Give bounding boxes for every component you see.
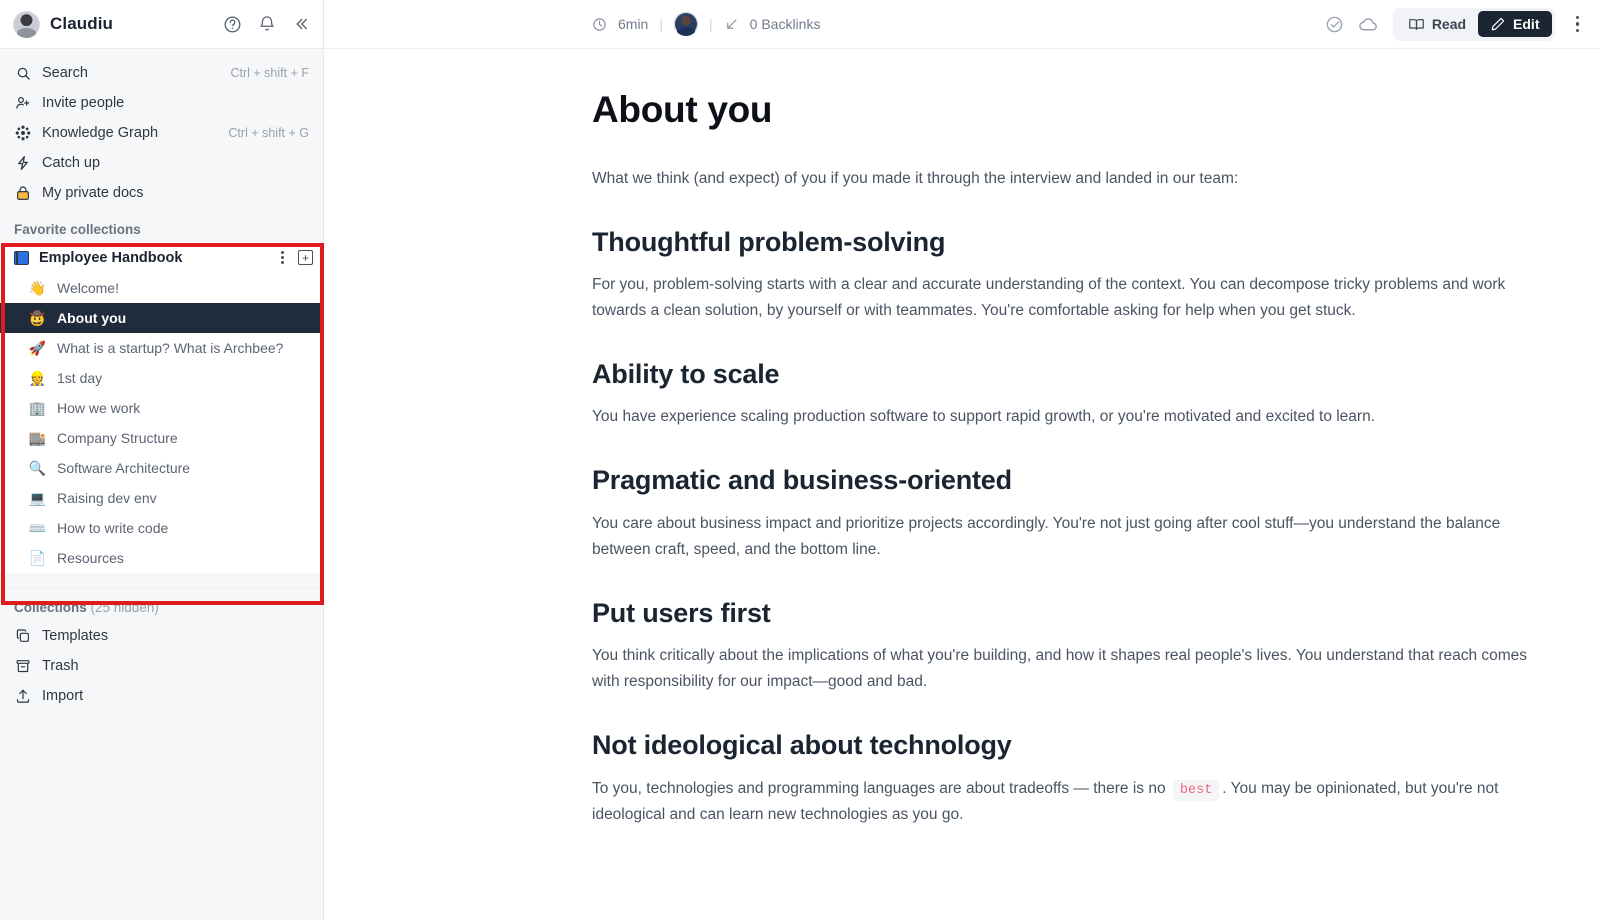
doc-item-label: Welcome! bbox=[57, 280, 119, 296]
sidebar-item-label: Invite people bbox=[42, 95, 124, 111]
search-icon bbox=[14, 66, 32, 81]
user-name: Claudiu bbox=[50, 14, 113, 34]
doc-emoji-icon: 🏬 bbox=[28, 430, 47, 447]
doc-emoji-icon: 🤠 bbox=[28, 310, 47, 327]
knowledge-graph-shortcut: Ctrl + shift + G bbox=[228, 126, 309, 140]
read-edit-toggle: Read Edit bbox=[1393, 8, 1555, 41]
sidebar-item-label: Trash bbox=[42, 658, 79, 674]
lock-icon bbox=[14, 185, 32, 201]
sidebar-header-icons bbox=[223, 15, 310, 34]
doc-item-how-to-write-code[interactable]: ⌨️ How to write code bbox=[0, 513, 323, 543]
doc-emoji-icon: 📄 bbox=[28, 550, 47, 567]
edit-label: Edit bbox=[1513, 16, 1539, 32]
collapse-sidebar-icon[interactable] bbox=[292, 15, 310, 33]
document-topbar: 6min | | 0 Backlinks bbox=[324, 0, 1600, 49]
doc-item-label: How we work bbox=[57, 400, 140, 416]
section-heading-not-ideological-about-technology: Not ideological about technology bbox=[592, 729, 1560, 761]
avatar[interactable] bbox=[13, 11, 40, 38]
meta-separator: | bbox=[709, 16, 713, 32]
edit-mode-button[interactable]: Edit bbox=[1478, 11, 1551, 37]
doc-item-how-we-work[interactable]: 🏢 How we work bbox=[0, 393, 323, 423]
sidebar-item-label: Knowledge Graph bbox=[42, 125, 158, 141]
sidebar-item-label: My private docs bbox=[42, 185, 144, 201]
templates-icon bbox=[14, 628, 32, 644]
doc-item-welcome[interactable]: 👋 Welcome! bbox=[0, 273, 323, 303]
document-body: About you What we think (and expect) of … bbox=[324, 49, 1600, 828]
cloud-sync-icon[interactable] bbox=[1358, 14, 1379, 35]
sidebar-item-catch-up[interactable]: Catch up bbox=[0, 148, 323, 178]
sidebar-item-search[interactable]: Search Ctrl + shift + F bbox=[0, 58, 323, 88]
doc-item-company-structure[interactable]: 🏬 Company Structure bbox=[0, 423, 323, 453]
sidebar-primary-nav: Search Ctrl + shift + F Invite people bbox=[0, 49, 323, 210]
section-body: You care about business impact and prior… bbox=[592, 511, 1552, 563]
section-heading-put-users-first: Put users first bbox=[592, 597, 1560, 629]
document-meta: 6min | | 0 Backlinks bbox=[592, 12, 820, 36]
sidebar-item-label: Search bbox=[42, 65, 88, 81]
doc-emoji-icon: 💻 bbox=[28, 490, 47, 507]
check-circle-icon[interactable] bbox=[1325, 15, 1344, 34]
sidebar-item-label: Import bbox=[42, 688, 83, 704]
section-heading-pragmatic-and-business-oriented: Pragmatic and business-oriented bbox=[592, 464, 1560, 496]
clock-icon bbox=[592, 17, 607, 32]
meta-separator: | bbox=[659, 16, 663, 32]
main-content: 6min | | 0 Backlinks bbox=[324, 0, 1600, 920]
page-title: About you bbox=[592, 89, 1560, 132]
collections-section-label: Collections (25 hidden) bbox=[0, 588, 323, 619]
section-body: For you, problem-solving starts with a c… bbox=[592, 272, 1552, 324]
kebab-menu-icon[interactable] bbox=[1569, 12, 1587, 37]
sidebar-item-templates[interactable]: Templates bbox=[0, 621, 323, 651]
document-intro: What we think (and expect) of you if you… bbox=[592, 166, 1552, 192]
doc-item-resources[interactable]: 📄 Resources bbox=[0, 543, 323, 573]
catch-up-bolt-icon bbox=[14, 155, 32, 171]
trash-icon bbox=[14, 658, 32, 674]
inline-code-chip: best bbox=[1173, 780, 1219, 801]
sidebar-bottom-nav: Templates Trash bbox=[0, 619, 323, 711]
doc-item-label: What is a startup? What is Archbee? bbox=[57, 340, 283, 356]
read-time: 6min bbox=[618, 16, 648, 32]
knowledge-graph-icon bbox=[14, 125, 32, 141]
author-avatar[interactable] bbox=[674, 12, 698, 36]
doc-item-1st-day[interactable]: 👷 1st day bbox=[0, 363, 323, 393]
doc-item-what-is-a-startup[interactable]: 🚀 What is a startup? What is Archbee? bbox=[0, 333, 323, 363]
doc-item-label: About you bbox=[57, 310, 126, 326]
doc-item-label: Raising dev env bbox=[57, 490, 157, 506]
doc-item-software-architecture[interactable]: 🔍 Software Architecture bbox=[0, 453, 323, 483]
section-body-with-code: To you, technologies and programming lan… bbox=[592, 776, 1552, 829]
doc-item-about-you[interactable]: 🤠 About you bbox=[0, 303, 323, 333]
help-icon[interactable] bbox=[223, 15, 242, 34]
document-scroll-area[interactable]: About you What we think (and expect) of … bbox=[324, 49, 1600, 920]
doc-item-label: Resources bbox=[57, 550, 124, 566]
collection-actions: + bbox=[277, 249, 313, 266]
add-page-icon[interactable]: + bbox=[298, 250, 313, 265]
app-root: Claudiu bbox=[0, 0, 1600, 920]
doc-emoji-icon: 🏢 bbox=[28, 400, 47, 417]
collection-title: Employee Handbook bbox=[39, 250, 182, 266]
sidebar-header: Claudiu bbox=[0, 0, 323, 49]
doc-emoji-icon: 👋 bbox=[28, 280, 47, 297]
notifications-bell-icon[interactable] bbox=[258, 15, 276, 33]
favorite-collections-panel: Employee Handbook + 👋 Welcome! 🤠 About y… bbox=[0, 241, 323, 588]
collections-hidden-count: (25 hidden) bbox=[91, 600, 159, 615]
topbar-actions: Read Edit bbox=[1325, 8, 1586, 41]
import-icon bbox=[14, 688, 32, 704]
favorites-panel-spacer bbox=[0, 573, 323, 587]
doc-item-label: Company Structure bbox=[57, 430, 178, 446]
section-body: You think critically about the implicati… bbox=[592, 643, 1552, 695]
backlinks-count: 0 Backlinks bbox=[750, 16, 821, 32]
section-heading-thoughtful-problem-solving: Thoughtful problem-solving bbox=[592, 226, 1560, 258]
sidebar-item-my-private-docs[interactable]: My private docs bbox=[0, 178, 323, 208]
sidebar-item-label: Templates bbox=[42, 628, 108, 644]
collection-employee-handbook[interactable]: Employee Handbook + bbox=[0, 242, 323, 273]
blue-book-icon bbox=[14, 251, 29, 265]
section-body-before-code: To you, technologies and programming lan… bbox=[592, 780, 1166, 797]
sidebar-item-trash[interactable]: Trash bbox=[0, 651, 323, 681]
sidebar-item-label: Catch up bbox=[42, 155, 100, 171]
section-body: You have experience scaling production s… bbox=[592, 404, 1552, 430]
sidebar: Claudiu bbox=[0, 0, 324, 920]
search-shortcut: Ctrl + shift + F bbox=[231, 66, 310, 80]
invite-people-icon bbox=[14, 95, 32, 111]
read-mode-button[interactable]: Read bbox=[1396, 11, 1478, 38]
doc-item-label: Software Architecture bbox=[57, 460, 190, 476]
doc-item-label: How to write code bbox=[57, 520, 168, 536]
collections-label: Collections bbox=[14, 600, 87, 615]
doc-emoji-icon: ⌨️ bbox=[28, 520, 47, 537]
doc-emoji-icon: 👷 bbox=[28, 370, 47, 387]
doc-item-raising-dev-env[interactable]: 💻 Raising dev env bbox=[0, 483, 323, 513]
kebab-menu-icon[interactable] bbox=[277, 249, 288, 266]
sidebar-item-import[interactable]: Import bbox=[0, 681, 323, 711]
read-label: Read bbox=[1432, 16, 1466, 32]
doc-item-label: 1st day bbox=[57, 370, 102, 386]
doc-emoji-icon: 🚀 bbox=[28, 340, 47, 357]
sidebar-item-knowledge-graph[interactable]: Knowledge Graph Ctrl + shift + G bbox=[0, 118, 323, 148]
doc-emoji-icon: 🔍 bbox=[28, 460, 47, 477]
section-heading-ability-to-scale: Ability to scale bbox=[592, 358, 1560, 390]
favorite-collections-label: Favorite collections bbox=[0, 210, 323, 241]
backlinks-arrow-icon bbox=[724, 17, 739, 32]
sidebar-item-invite-people[interactable]: Invite people bbox=[0, 88, 323, 118]
